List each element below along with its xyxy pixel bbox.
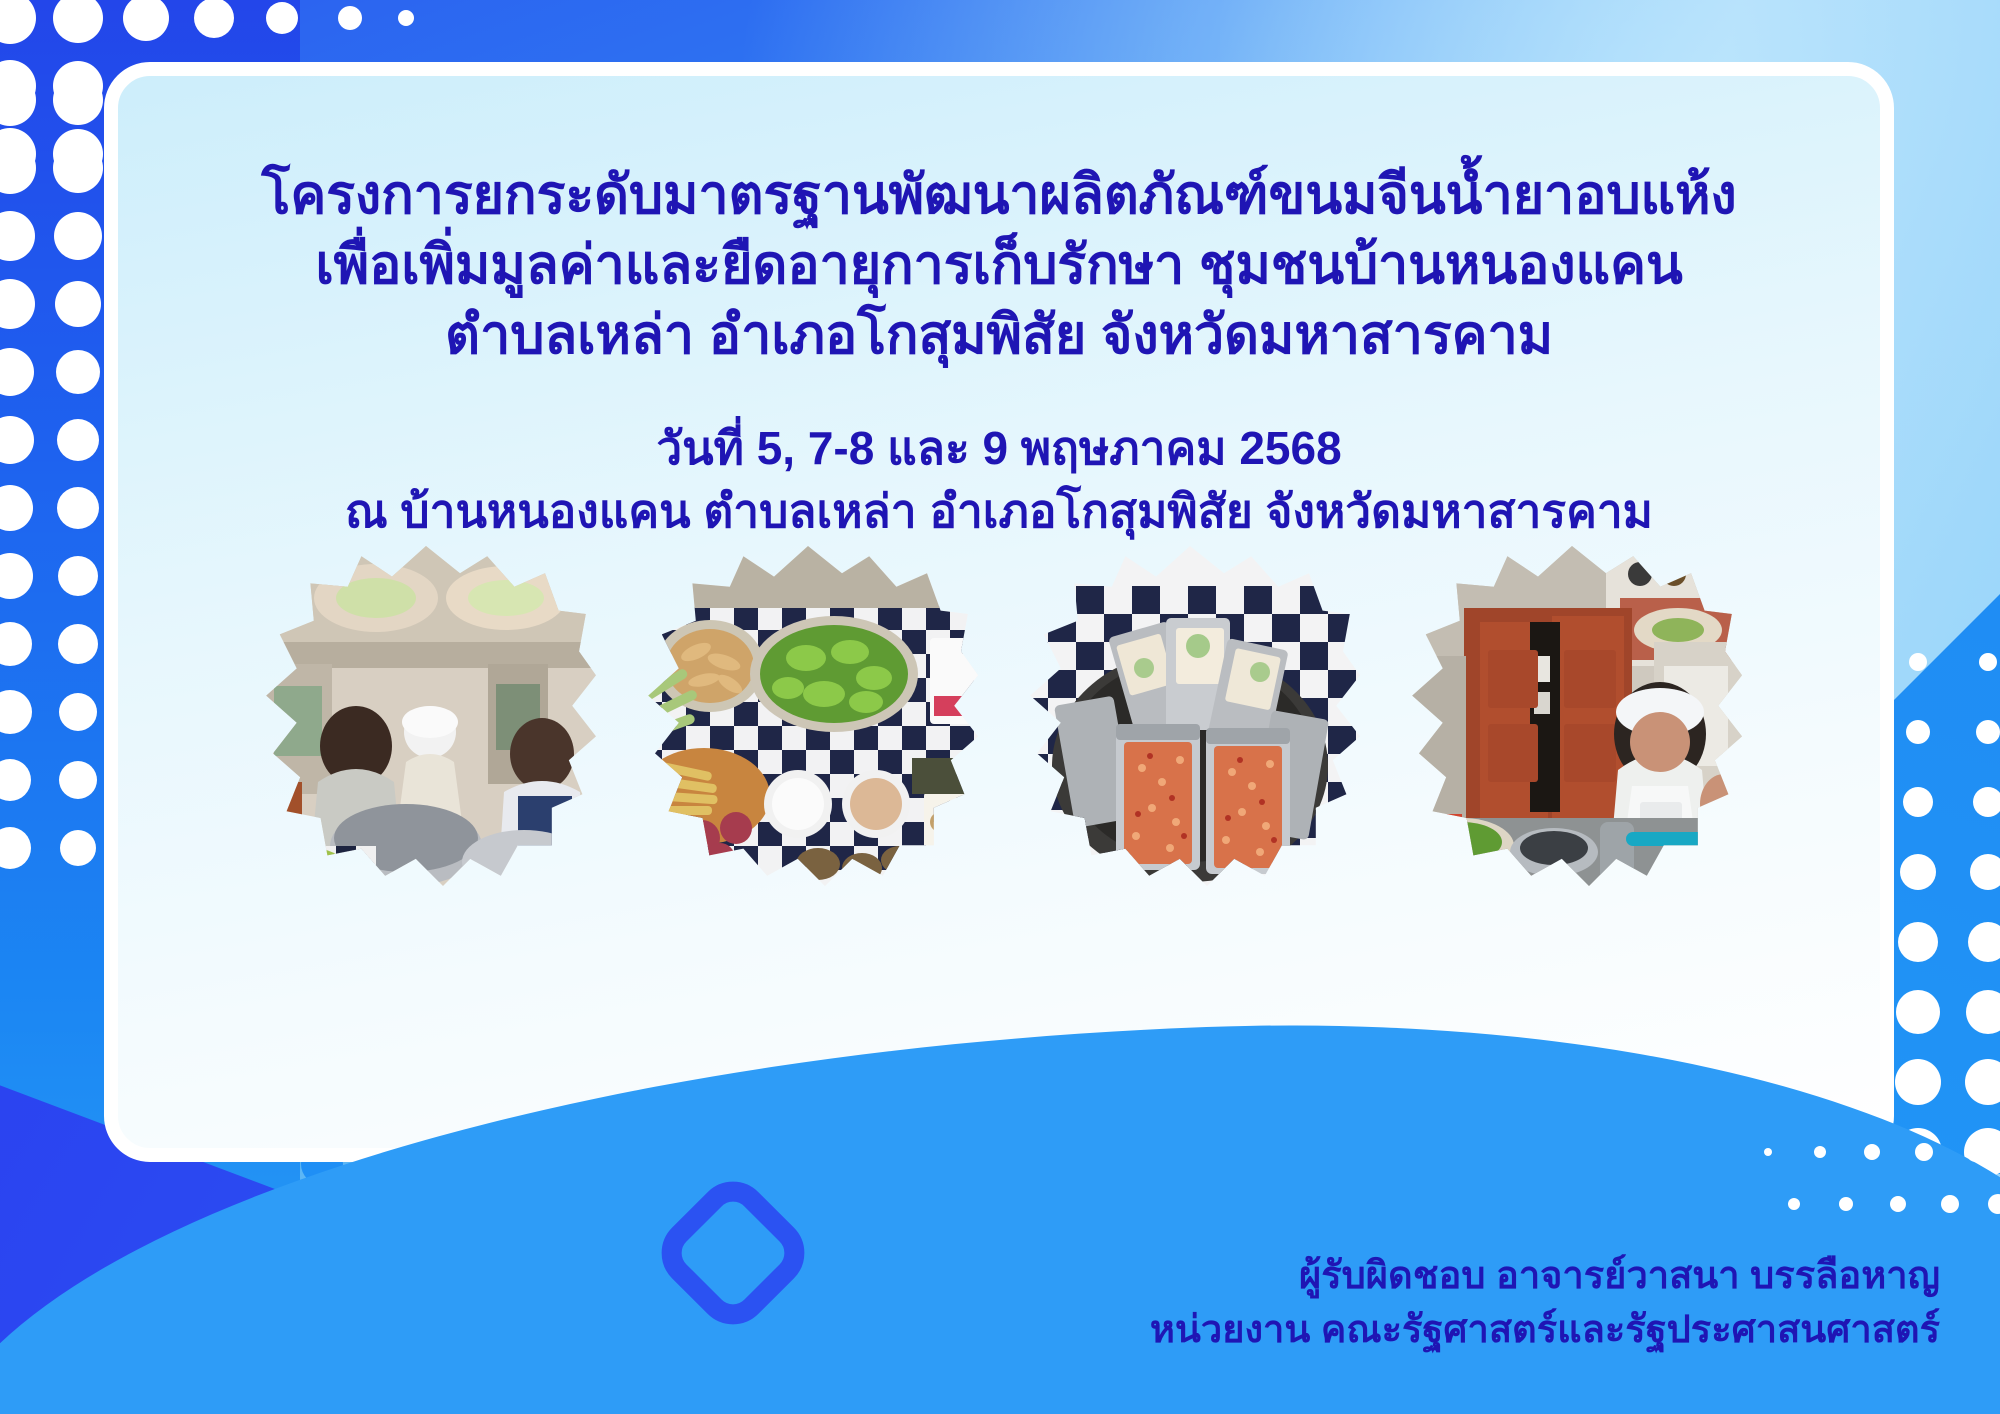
date-block: วันที่ 5, 7-8 และ 9 พฤษภาคม 2568 ณ บ้านห… [118,417,1880,544]
title-line-3: ตำบลเหล่า อำเภอโกสุมพิสัย จังหวัดมหาสารค… [118,300,1880,370]
photo-collage-row [118,546,1880,886]
photo-ingredients-layout [638,546,978,886]
poster-canvas: โครงการยกระดับมาตรฐานพัฒนาผลิตภัณฑ์ขนมจี… [0,0,2000,1414]
venue-line: ณ บ้านหนองแคน ตำบลเหล่า อำเภอโกสุมพิสัย … [118,480,1880,543]
photo-workshop-mixing [256,546,596,886]
photo-demonstration [1402,546,1742,886]
title-line-2: เพื่อเพิ่มมูลค่าและยืดอายุการเก็บรักษา ช… [118,230,1880,300]
poster-card: โครงการยกระดับมาตรฐานพัฒนาผลิตภัณฑ์ขนมจี… [104,62,1894,1162]
credit-organization: หน่วยงาน คณะรัฐศาสตร์และรัฐประศาสนศาสตร์ [1150,1304,1940,1358]
title-block: โครงการยกระดับมาตรฐานพัฒนาผลิตภัณฑ์ขนมจี… [118,160,1880,371]
credits-block: ผู้รับผิดชอบ อาจารย์วาสนา บรรลือหาญ หน่ว… [1150,1250,1940,1358]
photo-packaged-products [1020,546,1360,886]
credit-responsible-person: ผู้รับผิดชอบ อาจารย์วาสนา บรรลือหาญ [1150,1250,1940,1304]
title-line-1: โครงการยกระดับมาตรฐานพัฒนาผลิตภัณฑ์ขนมจี… [118,160,1880,230]
date-line: วันที่ 5, 7-8 และ 9 พฤษภาคม 2568 [118,417,1880,480]
diamond-logo [648,1168,818,1338]
